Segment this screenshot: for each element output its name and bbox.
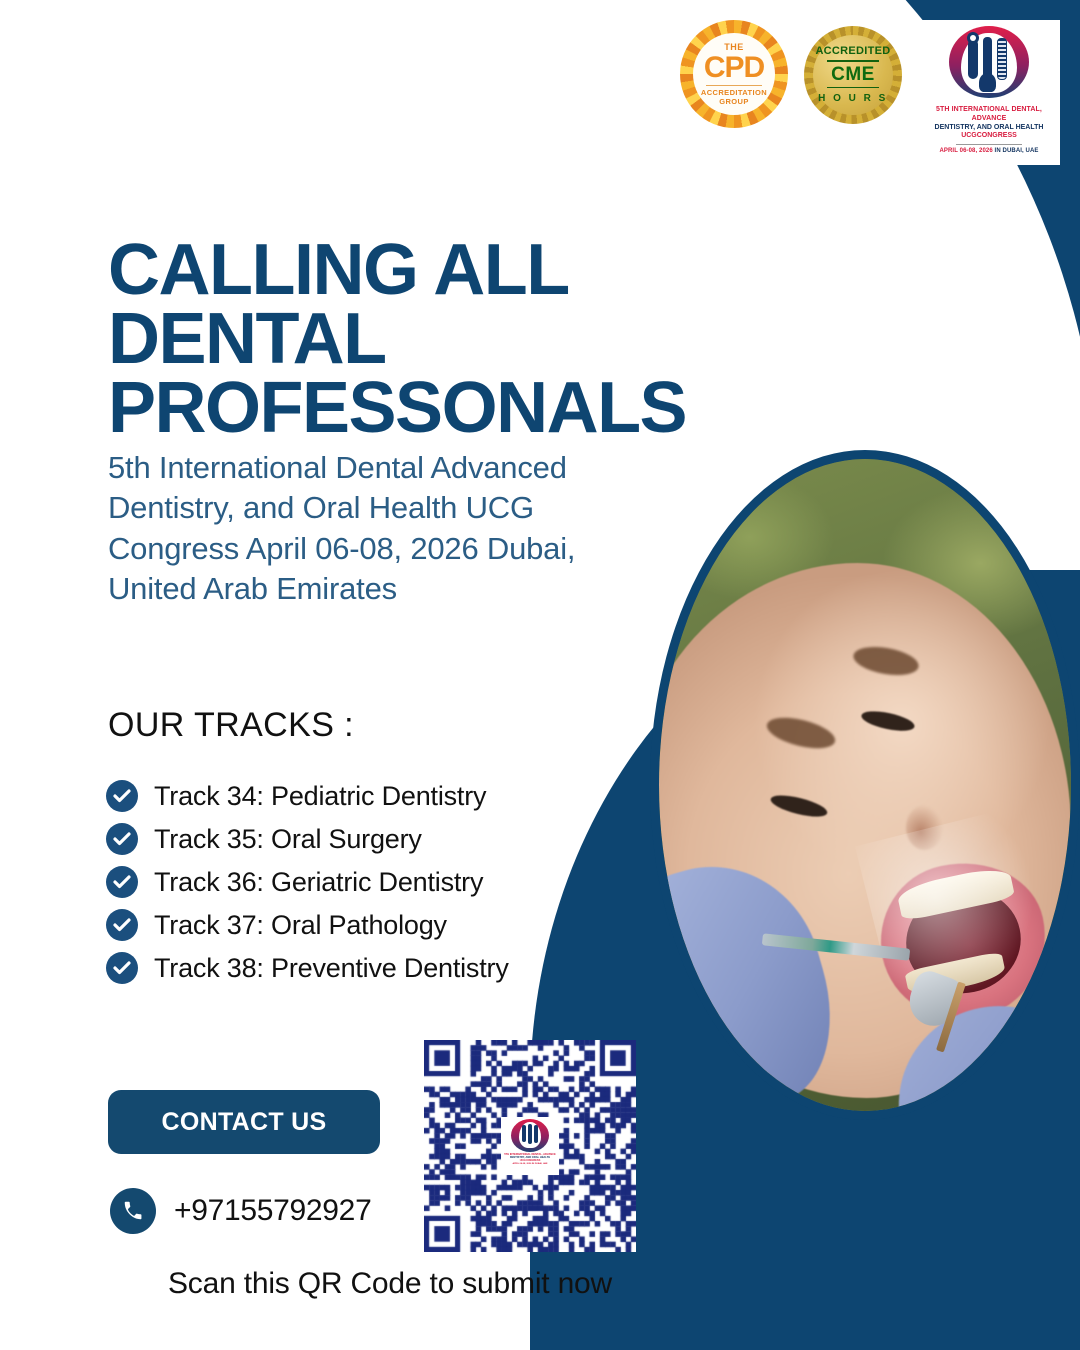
cpd-line-accreditation: ACCREDITATION [701,89,767,97]
qr-caption: Scan this QR Code to submit now [120,1262,660,1306]
headline-line2: DENTAL [108,305,748,374]
event-logo-line1: 5TH INTERNATIONAL DENTAL, ADVANCE [918,106,1060,124]
event-logo-place: IN DUBAI, UAE [995,148,1039,154]
cpd-disc: THE CPD ACCREDITATION GROUP [693,33,775,115]
accredited-cme-hours-badge: ACCREDITED CME H O U R S [804,26,902,124]
track-item-37: Track 37: Oral Pathology [106,909,509,941]
track-item-34: Track 34: Pediatric Dentistry [106,780,509,812]
subtitle-line4: United Arab Emirates [108,569,708,609]
qr-logo-tool-1 [522,1125,526,1142]
cpd-accreditation-badge: THE CPD ACCREDITATION GROUP [680,20,788,128]
track-label: Track 36: Geriatric Dentistry [154,867,483,898]
qr-caption-line1: Scan this QR Code to submit [168,1267,549,1300]
track-label: Track 35: Oral Surgery [154,824,422,855]
track-item-38: Track 38: Preventive Dentistry [106,952,509,984]
qr-logo-line4: APRIL 06-08, 2026 IN DUBAI, UAE [513,1163,548,1165]
phone-icon [110,1188,156,1234]
qr-logo-line3: UCGCONGRESS [520,1159,541,1162]
subtitle-line3: Congress April 06-08, 2026 Dubai, [108,529,708,569]
cme-divider-top [827,60,879,62]
check-circle-icon [106,780,138,812]
qr-logo-tool-2 [528,1124,532,1144]
logo-mirror-icon [968,39,978,79]
page-title: CALLING ALL DENTAL PROFESSONALS [108,236,748,443]
phone-number: +97155792927 [174,1194,371,1228]
cpd-divider [706,85,762,86]
cme-line-hours: H O U R S [818,94,888,104]
qr-code[interactable]: 5TH INTERNATIONAL DENTAL, ADVANCE DENTIS… [424,1040,636,1252]
tracks-list: Track 34: Pediatric Dentistry Track 35: … [106,780,509,984]
track-item-35: Track 35: Oral Surgery [106,823,509,855]
cpd-line-group: GROUP [719,98,749,106]
contact-us-button[interactable]: CONTACT US [108,1090,380,1154]
check-circle-icon [106,823,138,855]
poster-root: THE CPD ACCREDITATION GROUP ACCREDITED C… [0,0,1080,1350]
qr-caption-line2: now [558,1267,612,1300]
qr-logo-tool-3 [534,1125,538,1143]
headline-line1: CALLING ALL [108,236,748,305]
event-logo-line3: UCGCONGRESS [961,132,1017,141]
accreditation-badges: THE CPD ACCREDITATION GROUP ACCREDITED C… [680,20,1060,165]
event-logo-date: APRIL 06-08, 2026 [939,148,992,154]
cme-disc: ACCREDITED CME H O U R S [813,35,893,115]
logo-scaler-icon [983,37,992,83]
check-circle-icon [106,952,138,984]
subtitle-line1: 5th International Dental Advanced [108,448,708,488]
check-circle-icon [106,866,138,898]
tooth-with-instruments-icon [941,26,1037,104]
logo-file-icon [997,38,1007,80]
track-label: Track 34: Pediatric Dentistry [154,781,486,812]
tracks-heading: OUR TRACKS : [108,706,354,745]
subtitle-line2: Dentistry, and Oral Health UCG [108,488,708,528]
cme-divider-bottom [827,87,879,89]
event-logo-line2: DENTISTRY, AND ORAL HEALTH [935,124,1044,133]
event-logo-line4: APRIL 06-08, 2026 IN DUBAI, UAE [939,148,1038,154]
check-circle-icon [106,909,138,941]
photo-inner [659,459,1071,1111]
event-logo-divider [956,144,1022,145]
event-logo: 5TH INTERNATIONAL DENTAL, ADVANCE DENTIS… [918,20,1060,165]
headline-line3: PROFESSONALS [108,374,748,443]
cpd-line-cpd: CPD [704,53,764,83]
dental-patient-photo [650,450,1080,1120]
event-subtitle: 5th International Dental Advanced Dentis… [108,448,708,609]
qr-logo-circle [511,1119,549,1152]
track-label: Track 37: Oral Pathology [154,910,447,941]
qr-center-logo: 5TH INTERNATIONAL DENTAL, ADVANCE DENTIS… [501,1117,559,1175]
phone-contact[interactable]: +97155792927 [110,1188,371,1234]
cme-line-cme: CME [831,65,875,84]
cme-line-accredited: ACCREDITED [815,46,890,57]
track-label: Track 38: Preventive Dentistry [154,953,509,984]
track-item-36: Track 36: Geriatric Dentistry [106,866,509,898]
